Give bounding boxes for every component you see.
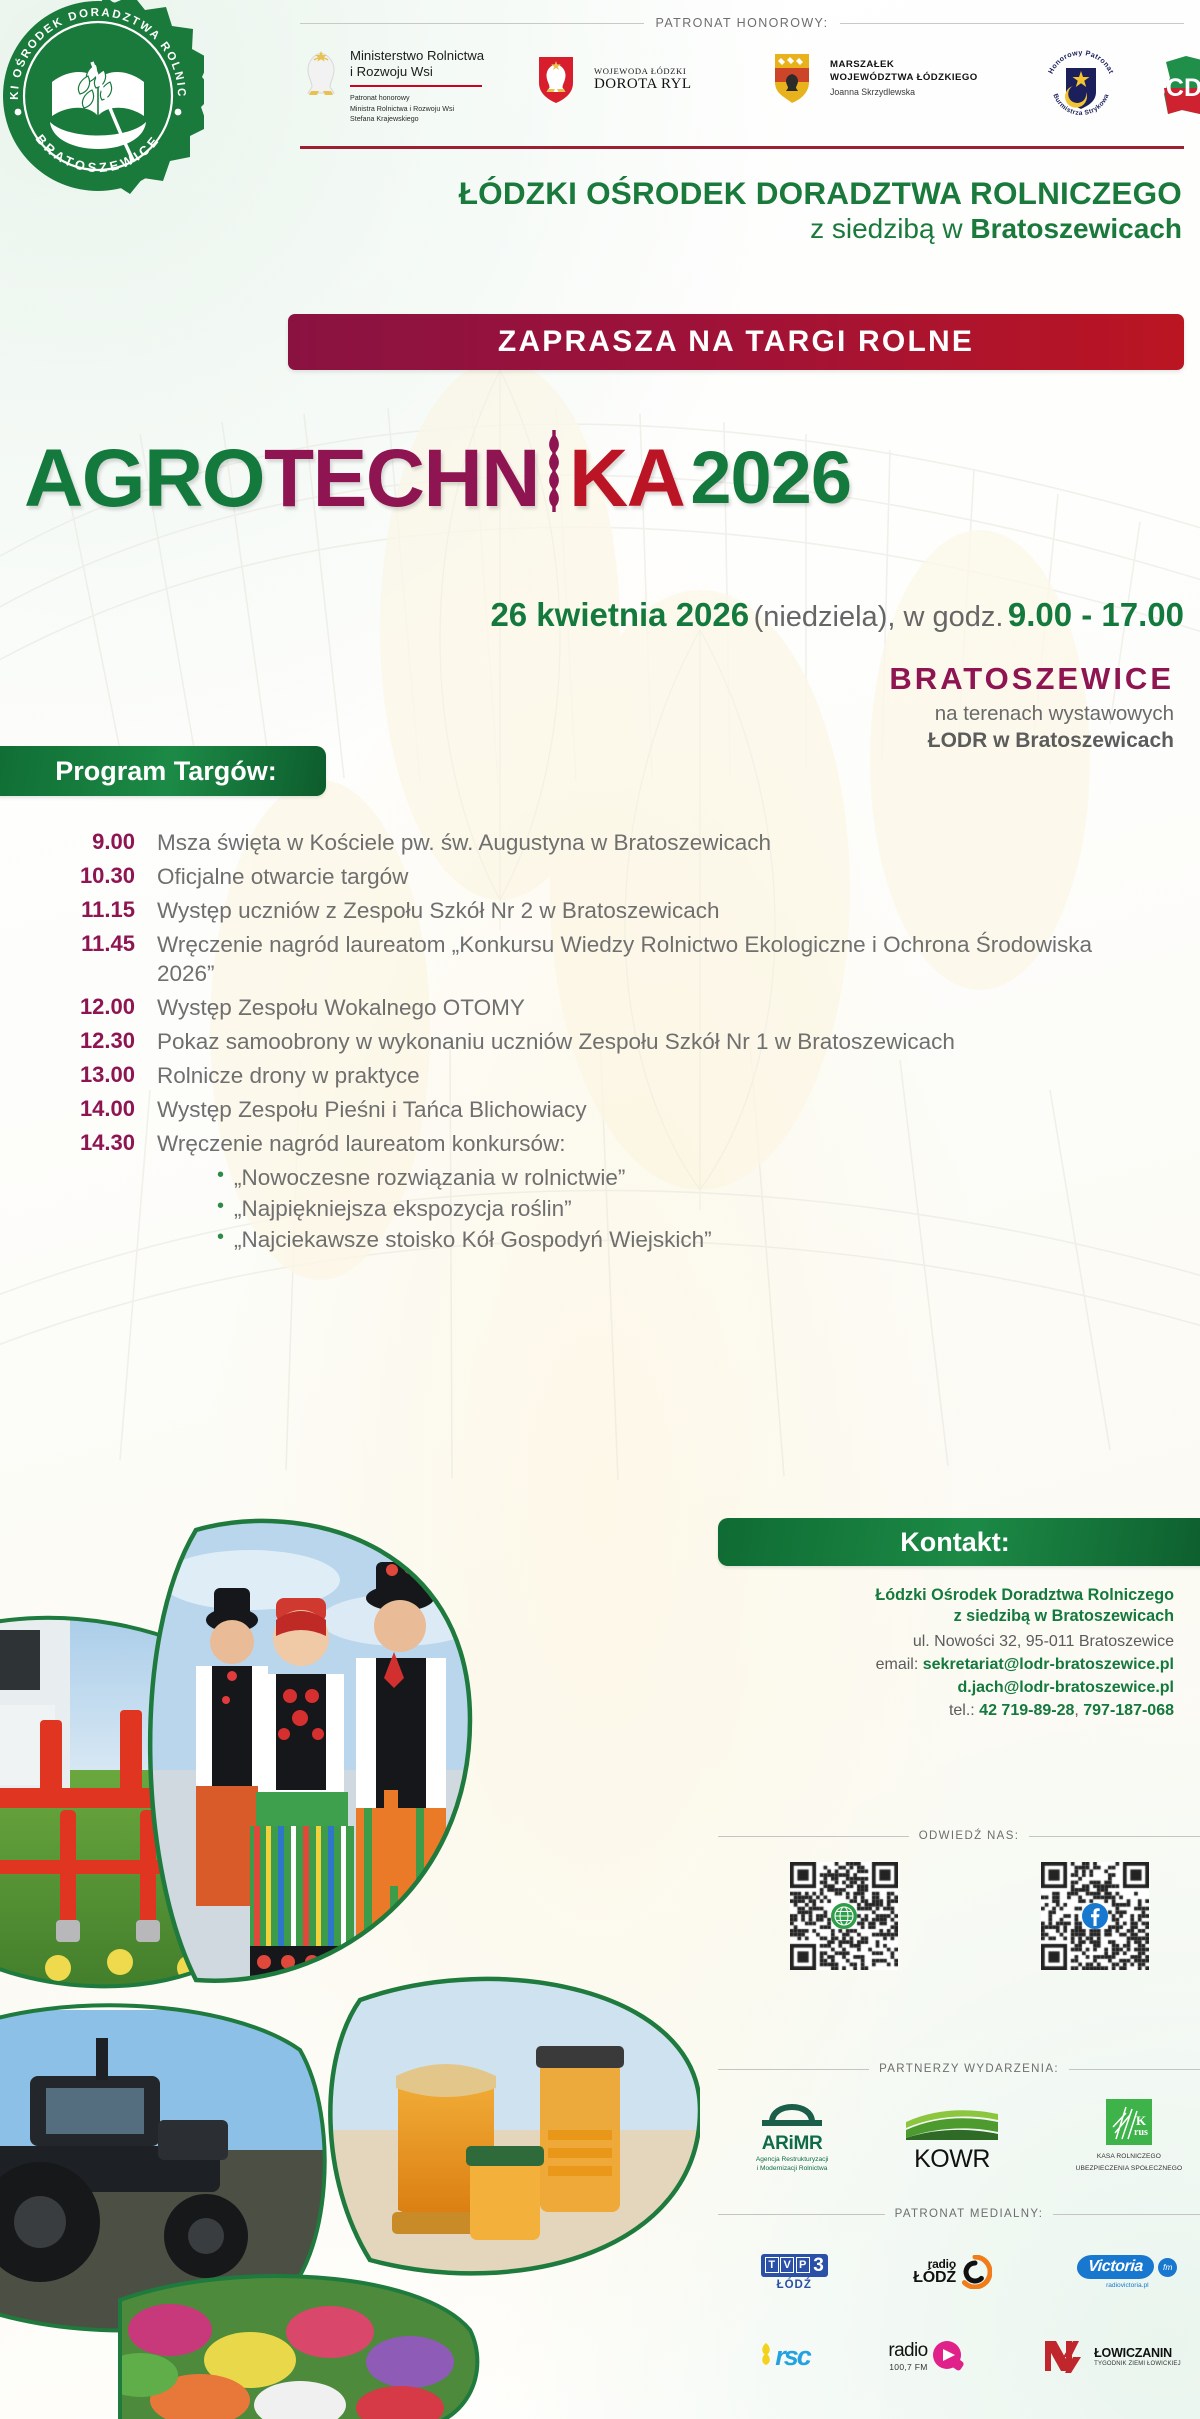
- program-heading-pill: Program Targów:: [0, 746, 326, 796]
- cdr-logo-icon: CDR: [1156, 48, 1200, 122]
- rule-left: [718, 2214, 885, 2215]
- contact-email-2[interactable]: d.jach@lodr-bratoszewice.pl: [957, 1679, 1174, 1696]
- patron-ministry: Ministerstwo Rolnictwa i Rozwoju Wsi Pat…: [300, 48, 484, 125]
- media-logos-row-1: T V P 3 ŁÓDŹ radio ŁÓDŹ Victoria fm: [718, 2240, 1200, 2304]
- contact-email-1[interactable]: sekretariat@lodr-bratoszewice.pl: [923, 1656, 1174, 1673]
- ministry-sub-line3: Stefana Krajewskiego: [350, 114, 484, 124]
- program-text: Pokaz samoobrony w wykonaniu uczniów Zes…: [135, 1027, 1135, 1056]
- tel-label: tel.:: [949, 1702, 979, 1719]
- contact-address: ul. Nowości 32, 95-011 Bratoszewice: [704, 1630, 1174, 1653]
- arimr-mark-icon: [756, 2090, 828, 2128]
- svg-text:K: K: [1136, 2113, 1147, 2128]
- program-subitem: „Najciekawsze stoisko Kół Gospodyń Wiejs…: [217, 1224, 712, 1255]
- program-row: 14.30 Wręczenie nagród laureatom konkurs…: [30, 1129, 1180, 1255]
- media-logos-row-2: rsc radio 100,7 FM ŁOWICZANIN: [718, 2326, 1200, 2386]
- rule-right: [840, 23, 1184, 24]
- ministry-flag-rule: [350, 85, 482, 88]
- event-day: (niedziela), w godz.: [754, 601, 1004, 633]
- media-radio-q: radio 100,7 FM: [888, 2339, 964, 2373]
- program-row: 14.00 Występ Zespołu Pieśni i Tańca Blic…: [30, 1095, 1180, 1124]
- contact-org-line1: Łódzki Ośrodek Doradztwa Rolniczego: [704, 1585, 1174, 1606]
- event-dateline: 26 kwietnia 2026 (niedziela), w godz. 9.…: [26, 596, 1184, 634]
- partner-kowr: KOWR: [904, 2106, 1000, 2174]
- program-text: Rolnicze drony w praktyce: [135, 1061, 420, 1090]
- media-tvp3-lodz: T V P 3 ŁÓDŹ: [761, 2254, 828, 2291]
- ministry-sub-line1: Patronat honorowy: [350, 93, 484, 103]
- tvp3-subtitle: ŁÓDŹ: [761, 2279, 828, 2291]
- photo-honey-jars: [330, 1940, 700, 2310]
- program-time: 10.30: [30, 862, 135, 891]
- event-place: BRATOSZEWICE: [889, 660, 1174, 698]
- patron-voivode: WOJEWODA ŁÓDZKI DOROTA RYL: [536, 54, 691, 104]
- radioq-frequency: 100,7 FM: [888, 2362, 927, 2372]
- patron-cdr: CDR: [1156, 48, 1200, 122]
- program-time: 12.00: [30, 993, 135, 1022]
- media-patronage-label: PATRONAT MEDIALNY:: [895, 2208, 1044, 2220]
- program-list: 9.00 Msza święta w Kościele pw. św. Augu…: [30, 828, 1180, 1260]
- krus-mark-icon: K rus: [1106, 2099, 1152, 2145]
- title-year: 2026: [690, 435, 851, 520]
- arimr-sub1: Agencja Restrukturyzacji: [756, 2156, 829, 2165]
- lodr-logo: ŁÓDZKI OŚRODEK DORADZTWA ROLNICZEGO BRAT…: [0, 0, 204, 202]
- radio-lodz-swirl-icon: [958, 2255, 992, 2289]
- rule-right: [1029, 1836, 1200, 1837]
- program-text: Oficjalne otwarcie targów: [135, 862, 408, 891]
- tvp-number-3: 3: [813, 2256, 824, 2275]
- event-place-sub2: ŁODR w Bratoszewicach: [889, 727, 1174, 754]
- lowiczanin-mark-icon: [1043, 2339, 1089, 2373]
- contact-heading-pill: Kontakt:: [718, 1518, 1200, 1566]
- partners-label: PARTNERZY WYDARZENIA:: [879, 2063, 1059, 2075]
- tvp3-box: T V P 3: [761, 2254, 828, 2277]
- contact-heading: Kontakt:: [900, 1527, 1038, 1558]
- kowr-mark-icon: [904, 2106, 1000, 2140]
- honey-jar-right: [536, 2046, 624, 2212]
- contact-org-line2: z siedzibą w Bratoszewicach: [704, 1606, 1174, 1627]
- krus-sub2: UBEZPIECZENIA SPOŁECZNEGO: [1076, 2165, 1183, 2174]
- patronage-divider: [300, 146, 1184, 149]
- email-label: email:: [876, 1656, 923, 1673]
- media-rsc: rsc: [757, 2341, 810, 2372]
- victoria-fm-badge: fm: [1158, 2258, 1177, 2277]
- krus-sub1: KASA ROLNICZEGO: [1076, 2153, 1183, 2162]
- marshal-title-line2: WOJEWÓDZTWA ŁÓDZKIEGO: [830, 72, 978, 85]
- polish-coat-of-arms-icon: [536, 54, 576, 104]
- banner-text: ZAPRASZA NA TARGI ROLNE: [498, 325, 974, 359]
- patron-mayor-strykow: Honorowy Patronat Burmistrza Strykowa: [1042, 46, 1120, 124]
- voivode-name: DOROTA RYL: [594, 76, 691, 93]
- media-radio-lodz: radio ŁÓDŹ: [913, 2255, 992, 2289]
- lodzkie-voivodeship-crest-icon: [772, 52, 812, 104]
- program-subitem: „Najpiękniejsza ekspozycja roślin”: [217, 1193, 712, 1224]
- media-radio-victoria: Victoria fm radiovictoria.pl: [1077, 2255, 1177, 2289]
- strykow-mayor-seal-icon: Honorowy Patronat Burmistrza Strykowa: [1042, 46, 1120, 124]
- event-date: 26 kwietnia 2026: [490, 596, 749, 633]
- event-location-block: BRATOSZEWICE na terenach wystawowych ŁOD…: [889, 660, 1174, 755]
- event-title-logo: AGRO TECHN KA 2026: [24, 428, 1184, 538]
- poster-canvas: ŁÓDZKI OŚRODEK DORADZTWA ROLNICZEGO BRAT…: [0, 0, 1200, 2419]
- visit-us-label: ODWIEDŹ NAS:: [919, 1830, 1020, 1842]
- program-row: 9.00 Msza święta w Kościele pw. św. Augu…: [30, 828, 1180, 857]
- ministry-name-line2: i Rozwoju Wsi: [350, 64, 484, 80]
- media-lowiczanin: ŁOWICZANIN TYGODNIK ZIEMI ŁOWICKIEJ: [1043, 2339, 1181, 2373]
- program-time: 13.00: [30, 1061, 135, 1090]
- qr-code-website[interactable]: [790, 1862, 898, 1970]
- rule-left: [300, 23, 644, 24]
- contact-phone-2[interactable]: 797-187-068: [1083, 1702, 1174, 1719]
- arimr-name: ARiMR: [756, 2133, 829, 2155]
- org-heading-line2-prefix: z siedzibą w: [810, 213, 970, 244]
- program-time: 11.45: [30, 930, 135, 988]
- media-patronage-header: PATRONAT MEDIALNY:: [718, 2208, 1200, 2220]
- org-heading-line2-bold: Bratoszewicach: [970, 213, 1182, 244]
- invitation-banner: ZAPRASZA NA TARGI ROLNE: [288, 314, 1184, 370]
- contact-block: Łódzki Ośrodek Doradztwa Rolniczego z si…: [704, 1585, 1174, 1723]
- radioq-word: radio: [888, 2340, 927, 2362]
- rule-left: [718, 2069, 869, 2070]
- program-text: Wręczenie nagród laureatom konkursów:: [157, 1129, 712, 1158]
- partner-arimr: ARiMR Agencja Restrukturyzacji i Moderni…: [756, 2090, 829, 2174]
- visit-us-header: ODWIEDŹ NAS:: [718, 1830, 1200, 1842]
- ministry-name-line1: Ministerstwo Rolnictwa: [350, 48, 484, 64]
- program-subitems: „Nowoczesne rozwiązania w rolnictwie” „N…: [157, 1162, 712, 1255]
- rsc-name: rsc: [775, 2341, 810, 2372]
- polish-eagle-ministry-icon: [300, 48, 342, 100]
- program-row: 10.30 Oficjalne otwarcie targów: [30, 862, 1180, 891]
- tvp-letter-p: P: [796, 2257, 810, 2273]
- program-time: 9.00: [30, 828, 135, 857]
- rule-right: [1053, 2214, 1200, 2215]
- program-time: 12.30: [30, 1027, 135, 1056]
- photo-collage: [0, 1470, 700, 2419]
- victoria-url: radiovictoria.pl: [1077, 2282, 1177, 2289]
- qr-code-facebook[interactable]: [1041, 1862, 1149, 1970]
- voivode-title: WOJEWODA ŁÓDZKI: [594, 66, 691, 76]
- arimr-sub2: i Modernizacji Rolnictwa: [756, 2165, 829, 2174]
- ministry-sub-line2: Ministra Rolnictwa i Rozwoju Wsi: [350, 104, 484, 114]
- folk-skirt-stripes: [250, 1826, 354, 1978]
- contact-email-row1: email: sekretariat@lodr-bratoszewice.pl: [704, 1653, 1174, 1676]
- program-row: 12.00 Występ Zespołu Wokalnego OTOMY: [30, 993, 1180, 1022]
- honey-jar-small: [466, 2146, 544, 2240]
- wheat-letter-i-icon: [539, 428, 569, 520]
- program-time: 11.15: [30, 896, 135, 925]
- patronage-label: PATRONAT HONOROWY:: [656, 16, 829, 30]
- event-place-sub1: na terenach wystawowych: [889, 701, 1174, 728]
- program-row: 11.45 Wręczenie nagród laureatom „Konkur…: [30, 930, 1180, 988]
- program-text: Występ uczniów z Zespołu Szkół Nr 2 w Br…: [135, 896, 720, 925]
- tvp-letter-v: V: [780, 2257, 794, 2273]
- organization-heading: ŁÓDZKI OŚRODEK DORADZTWA ROLNICZEGO z si…: [120, 176, 1182, 246]
- program-time: 14.30: [30, 1129, 135, 1255]
- kowr-name: KOWR: [904, 2145, 1000, 2174]
- patronage-header: PATRONAT HONOROWY:: [300, 16, 1184, 30]
- title-part-ka: KA: [569, 438, 684, 520]
- globe-icon: [831, 1903, 857, 1929]
- victoria-name: Victoria: [1088, 2258, 1144, 2275]
- partners-header: PARTNERZY WYDARZENIA:: [718, 2063, 1200, 2075]
- partner-krus: K rus KASA ROLNICZEGO UBEZPIECZENIA SPOŁ…: [1076, 2099, 1183, 2174]
- tvp-letter-t: T: [765, 2257, 779, 2273]
- program-subitem: „Nowoczesne rozwiązania w rolnictwie”: [217, 1162, 712, 1193]
- program-text: Występ Zespołu Wokalnego OTOMY: [135, 993, 525, 1022]
- svg-text:rus: rus: [1134, 2127, 1148, 2138]
- title-part-agro: AGRO: [24, 438, 264, 520]
- org-heading-line1: ŁÓDZKI OŚRODEK DORADZTWA ROLNICZEGO: [120, 176, 1182, 211]
- victoria-pill: Victoria: [1077, 2255, 1156, 2279]
- contact-email-row2: d.jach@lodr-bratoszewice.pl: [704, 1676, 1174, 1699]
- program-row: 11.15 Występ uczniów z Zespołu Szkół Nr …: [30, 896, 1180, 925]
- marshal-name: Joanna Skrzydlewska: [830, 87, 978, 97]
- radio-q-icon: [931, 2339, 965, 2373]
- partner-logos-row: ARiMR Agencja Restrukturyzacji i Moderni…: [718, 2088, 1200, 2174]
- event-title-row: AGRO TECHN KA 2026: [24, 428, 1184, 520]
- event-hours: 9.00 - 17.00: [1008, 596, 1184, 633]
- facebook-icon: [1082, 1903, 1108, 1929]
- lowiczanin-subtitle: TYGODNIK ZIEMI ŁOWICKIEJ: [1094, 2361, 1181, 2367]
- program-text: Występ Zespołu Pieśni i Tańca Blichowiac…: [135, 1095, 587, 1124]
- rule-left: [718, 1836, 909, 1837]
- patron-marshal: MARSZAŁEK WOJEWÓDZTWA ŁÓDZKIEGO Joanna S…: [772, 52, 978, 104]
- program-text: Msza święta w Kościele pw. św. Augustyna…: [135, 828, 771, 857]
- rule-right: [1069, 2069, 1200, 2070]
- rsc-wheat-icon: [757, 2341, 775, 2371]
- radio-lodz-word2: ŁÓDŹ: [913, 2270, 956, 2286]
- contact-phone-row: tel.: 42 719-89-28, 797-187-068: [704, 1699, 1174, 1722]
- program-heading: Program Targów:: [29, 756, 277, 787]
- patronage-logos-row: Ministerstwo Rolnictwa i Rozwoju Wsi Pat…: [300, 40, 1184, 132]
- program-time: 14.00: [30, 1095, 135, 1124]
- qr-code-row: [718, 1862, 1200, 1970]
- program-row: 12.30 Pokaz samoobrony w wykonaniu uczni…: [30, 1027, 1180, 1056]
- cdr-label: CDR: [1166, 74, 1200, 102]
- org-heading-line2: z siedzibą w Bratoszewicach: [120, 212, 1182, 246]
- contact-phone-1[interactable]: 42 719-89-28: [979, 1702, 1074, 1719]
- title-part-techn: TECHN: [264, 438, 539, 520]
- lowiczanin-name: ŁOWICZANIN: [1094, 2346, 1181, 2360]
- program-row: 13.00 Rolnicze drony w praktyce: [30, 1061, 1180, 1090]
- tel-separator: ,: [1074, 1702, 1083, 1719]
- program-text: Wręczenie nagród laureatom „Konkursu Wie…: [135, 930, 1115, 988]
- marshal-title-line1: MARSZAŁEK: [830, 59, 978, 72]
